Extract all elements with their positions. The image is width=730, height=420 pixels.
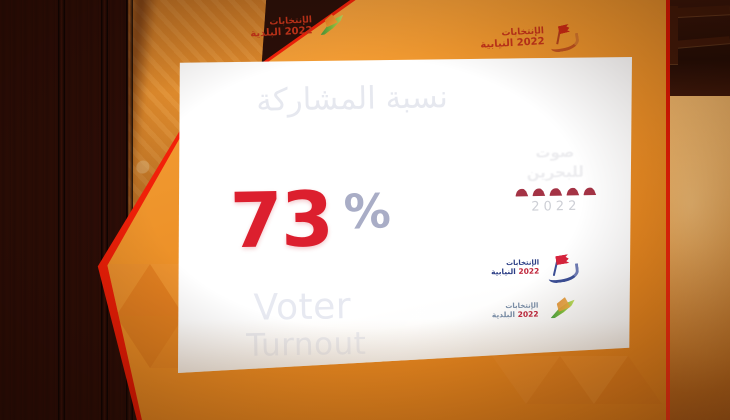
watermark-arabic-line-1: صوت <box>503 141 607 163</box>
wood-seam-a <box>58 0 65 420</box>
turnout-percent-value: 73 <box>229 184 332 256</box>
slide-content: نسبة المشاركة 73 % Voter Turnout صوت للب… <box>178 57 632 373</box>
rail-post-1 <box>670 6 678 64</box>
mound-icon <box>532 188 545 196</box>
turnout-value-row: 73 % <box>229 183 391 256</box>
slide-english-line-2: Turnout <box>246 326 367 364</box>
slide-arabic-title: نسبة المشاركة <box>222 78 449 122</box>
logo-line-2: 2022 النيابية <box>491 267 539 276</box>
presentation-slide: نسبة المشاركة 73 % Voter Turnout صوت للب… <box>178 57 632 373</box>
logo-word: البلدية <box>492 310 515 319</box>
slide-logo-parliamentary-text: الإنتخابات 2022 النيابية <box>491 259 540 276</box>
logo-year: 2022 <box>518 266 539 275</box>
backdrop-logo-municipal-text: الإنتخابات 2022 البلدية <box>249 16 312 40</box>
mound-icon <box>583 187 596 195</box>
slide-logo-parliamentary-row: الإنتخابات 2022 النيابية <box>491 254 579 282</box>
logo-word: البلدية <box>250 27 282 40</box>
flag-icon <box>548 24 579 48</box>
slide-logo-municipal-row: الإنتخابات 2022 البلدية <box>492 297 578 325</box>
leaf-icon <box>316 13 347 37</box>
mound-icon <box>566 187 579 195</box>
watermark-mounds-icon <box>504 187 608 197</box>
leaf-icon <box>543 297 577 324</box>
watermark-arabic-line-2: للبحرين <box>503 162 607 184</box>
mound-icon <box>515 188 528 196</box>
slide-logo-municipal-text: الإنتخابات 2022 البلدية <box>492 302 539 319</box>
slide-watermark: صوت للبحرين 2022 <box>503 141 608 214</box>
logo-year: 2022 <box>518 309 539 318</box>
slide-logo-municipal: الإنتخابات 2022 البلدية <box>492 297 578 325</box>
flag-icon <box>544 254 578 281</box>
backdrop-logo-parliamentary: الإنتخابات 2022 النيابية <box>479 24 578 51</box>
logo-year: 2022 <box>516 37 544 50</box>
logo-year: 2022 <box>284 26 312 39</box>
slide-english-line-1: Voter <box>253 286 351 329</box>
backdrop-logo-parliamentary-text: الإنتخابات 2022 النيابية <box>479 27 544 51</box>
mound-icon <box>549 188 562 196</box>
logo-word: النيابية <box>480 38 514 51</box>
wood-seam-b <box>101 0 108 420</box>
percent-symbol: % <box>343 183 391 243</box>
slide-logo-parliamentary: الإنتخابات 2022 النيابية <box>491 254 579 282</box>
logo-line-2: 2022 البلدية <box>492 310 539 319</box>
screenshot-stage: الإنتخابات 2022 البلدية الإنتخابات 2022 … <box>0 0 730 420</box>
watermark-year: 2022 <box>504 198 608 215</box>
logo-word: النيابية <box>491 267 516 276</box>
